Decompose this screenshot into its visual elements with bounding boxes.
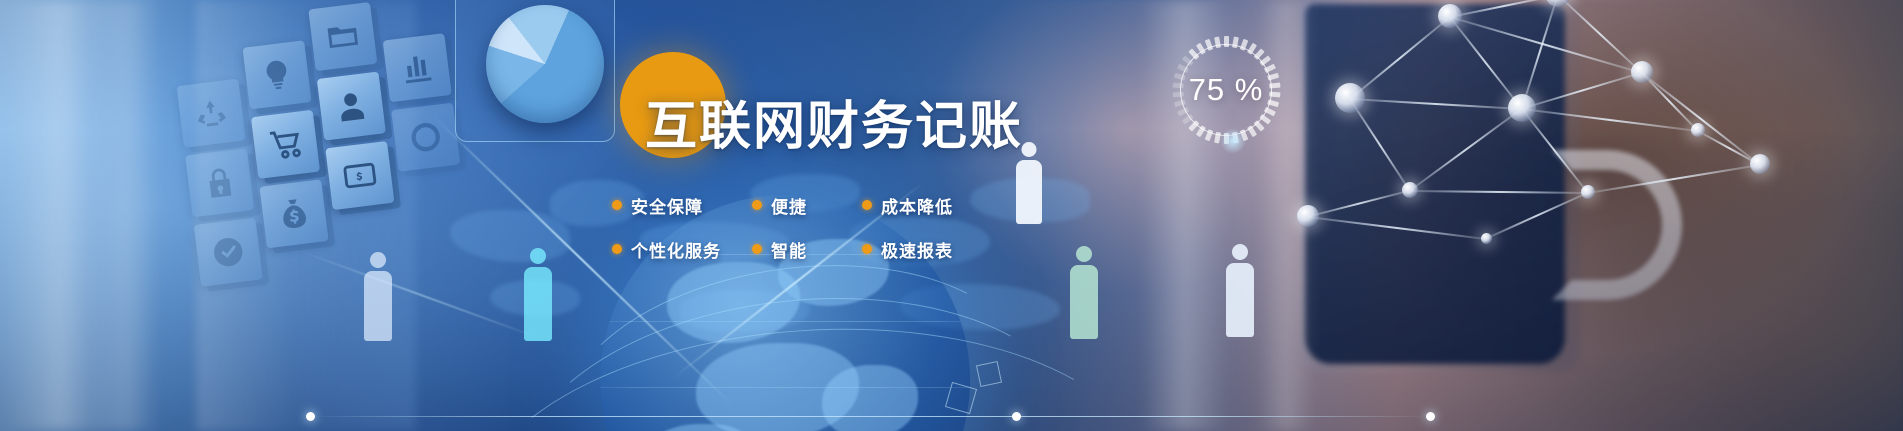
bullet-dot-icon	[862, 244, 872, 254]
person-silhouette	[1222, 244, 1258, 340]
bottom-divider	[310, 416, 1430, 418]
feature-label: 智能	[771, 237, 807, 262]
network-node	[1402, 182, 1418, 198]
divider-dot	[306, 412, 315, 421]
network-edge	[1308, 216, 1486, 240]
progress-gauge: 75 %	[1172, 36, 1280, 144]
money-bag-icon	[260, 179, 329, 248]
feature-label: 个性化服务	[631, 237, 721, 262]
user-icon	[317, 71, 386, 140]
bullet-dot-icon	[862, 200, 872, 210]
network-edge	[1349, 16, 1450, 99]
pie-chart	[486, 5, 604, 123]
bullet-dot-icon	[752, 244, 762, 254]
page-title: 互联网财务记账	[645, 101, 1023, 153]
feature-label: 极速报表	[881, 237, 953, 262]
feature-item: 安全保障	[612, 183, 752, 227]
shopping-cart-icon	[251, 110, 320, 179]
recycle-icon	[177, 79, 246, 148]
network-edge	[1449, 16, 1522, 109]
network-edge	[1522, 108, 1698, 132]
lock-icon	[185, 148, 254, 217]
gauge-glow	[1220, 128, 1246, 154]
network-edge	[1486, 192, 1589, 239]
network-node	[1297, 205, 1319, 227]
network-edge	[1557, 0, 1642, 73]
decor-square	[976, 361, 1002, 387]
credit-card-icon	[325, 141, 394, 210]
feature-label: 便捷	[771, 193, 807, 218]
network-edge	[1642, 72, 1761, 165]
bullet-dot-icon	[752, 200, 762, 210]
network-node	[1691, 123, 1705, 137]
feature-item: 个性化服务	[612, 227, 752, 271]
network-node	[1631, 61, 1653, 83]
network-edge	[1308, 190, 1410, 218]
divider-dot	[1012, 412, 1021, 421]
feature-label: 安全保障	[631, 193, 703, 218]
coin-icon	[391, 103, 460, 172]
network-node	[1335, 83, 1365, 113]
light-streak	[90, 0, 160, 431]
network-edge	[1410, 190, 1588, 194]
feature-label: 成本降低	[881, 193, 953, 218]
person-silhouette	[1012, 142, 1046, 226]
network-node	[1481, 233, 1492, 244]
feature-item: 便捷	[752, 183, 862, 227]
clock-check-icon	[194, 218, 263, 287]
network-node	[1581, 185, 1595, 199]
network-edge	[1450, 0, 1558, 18]
person-silhouette	[520, 248, 556, 344]
network-node	[1438, 4, 1462, 28]
network-edge	[1350, 98, 1522, 110]
network-node	[1750, 154, 1770, 174]
network-node-graph	[1290, 0, 1850, 310]
bullet-dot-icon	[612, 244, 622, 254]
divider-dot	[1426, 412, 1435, 421]
folder-icon	[308, 2, 377, 71]
network-edge	[1410, 108, 1523, 191]
network-edge	[1349, 98, 1410, 191]
network-edge	[1522, 72, 1642, 110]
icon-cube-grid	[155, 0, 501, 255]
feature-item: 极速报表	[862, 227, 982, 271]
network-edge	[1588, 164, 1760, 194]
bullet-dot-icon	[612, 200, 622, 210]
network-node	[1508, 94, 1536, 122]
person-silhouette	[360, 252, 396, 344]
person-silhouette	[1066, 246, 1102, 342]
feature-list: 安全保障 便捷 成本降低 个性化服务 智能 极速报表	[612, 183, 982, 271]
gauge-value: 75 %	[1172, 36, 1280, 144]
feature-item: 智能	[752, 227, 862, 271]
hero-banner: 互联网财务记账 安全保障 便捷 成本降低 个性化服务 智能 极速报表	[0, 0, 1903, 431]
feature-item: 成本降低	[862, 183, 982, 227]
network-edge	[1521, 108, 1588, 193]
bar-chart-icon	[383, 33, 452, 102]
lightbulb-icon	[242, 40, 311, 109]
network-edge	[1641, 72, 1698, 131]
network-edge	[1521, 0, 1559, 109]
